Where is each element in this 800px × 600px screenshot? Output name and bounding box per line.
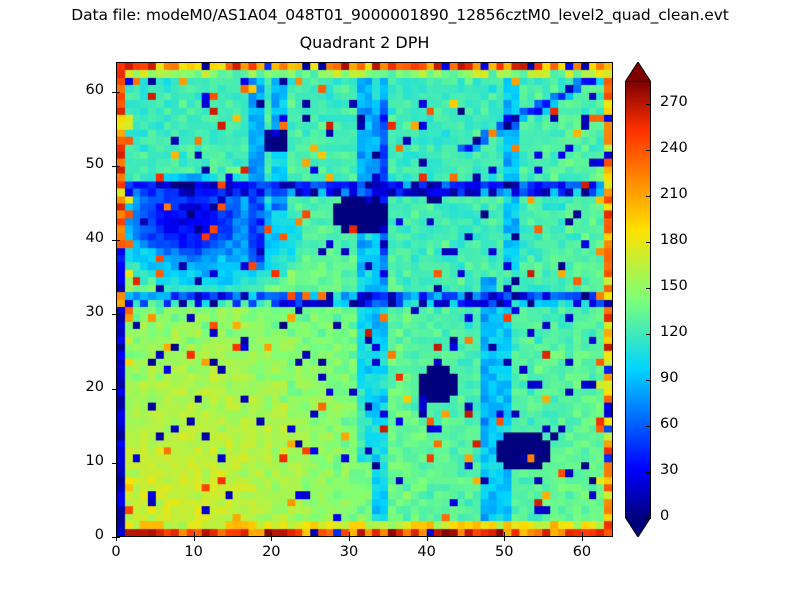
y-tick-mark-inner xyxy=(116,166,120,167)
colorbar-max-arrow-icon xyxy=(625,62,651,82)
y-tick-mark-inner xyxy=(116,240,120,241)
x-tick-mark xyxy=(194,537,195,541)
colorbar-tick-mark xyxy=(646,150,651,151)
x-tick-mark-inner xyxy=(271,532,272,536)
colorbar-tick-label: 60 xyxy=(660,416,678,432)
colorbar-tick-mark xyxy=(646,426,651,427)
colorbar-tick-label: 90 xyxy=(660,370,678,386)
colorbar-tick-label: 120 xyxy=(660,324,688,340)
colorbar-gradient-fill xyxy=(626,82,650,517)
x-tick-mark xyxy=(427,537,428,541)
x-tick-mark xyxy=(504,537,505,541)
x-tick-mark-inner xyxy=(349,532,350,536)
detector-heatmap-image xyxy=(117,63,612,536)
y-tick-label: 10 xyxy=(44,453,104,469)
colorbar-tick-label: 240 xyxy=(660,140,688,156)
x-tick-mark-inner xyxy=(427,532,428,536)
heatmap-axes xyxy=(116,62,613,537)
x-tick-label: 10 xyxy=(164,544,224,560)
page-title: Quadrant 2 DPH xyxy=(116,33,613,52)
y-tick-label: 20 xyxy=(44,379,104,395)
y-tick-label: 0 xyxy=(44,527,104,543)
x-tick-mark-inner xyxy=(194,532,195,536)
y-tick-mark-inner xyxy=(116,389,120,390)
colorbar-gradient xyxy=(625,81,651,518)
x-tick-mark-inner xyxy=(582,532,583,536)
x-tick-mark xyxy=(271,537,272,541)
x-tick-label: 40 xyxy=(397,544,457,560)
colorbar-min-arrow-icon xyxy=(625,517,651,537)
y-tick-mark-inner xyxy=(116,92,120,93)
colorbar-tick-label: 30 xyxy=(660,462,678,478)
colorbar-tick-mark xyxy=(646,472,651,473)
colorbar-tick-mark xyxy=(646,242,651,243)
colorbar-tick-mark xyxy=(646,518,651,519)
y-tick-label: 40 xyxy=(44,230,104,246)
colorbar-tick-mark xyxy=(646,104,651,105)
y-tick-mark-inner xyxy=(116,463,120,464)
data-file-title: Data file: modeM0/AS1A04_048T01_90000018… xyxy=(0,6,800,24)
matplotlib-figure: Data file: modeM0/AS1A04_048T01_90000018… xyxy=(0,0,800,600)
colorbar-tick-mark xyxy=(646,196,651,197)
x-tick-label: 30 xyxy=(319,544,379,560)
y-tick-mark-inner xyxy=(116,314,120,315)
x-tick-label: 50 xyxy=(474,544,534,560)
colorbar-tick-mark xyxy=(646,334,651,335)
colorbar-tick-label: 150 xyxy=(660,278,688,294)
y-tick-label: 50 xyxy=(44,156,104,172)
x-tick-label: 20 xyxy=(241,544,301,560)
colorbar-tick-mark xyxy=(646,380,651,381)
x-tick-mark xyxy=(349,537,350,541)
colorbar-tick-label: 180 xyxy=(660,232,688,248)
colorbar: 0306090120150180210240270 xyxy=(625,62,651,537)
x-tick-mark-inner xyxy=(504,532,505,536)
colorbar-tick-mark xyxy=(646,288,651,289)
y-tick-label: 30 xyxy=(44,304,104,320)
x-tick-label: 60 xyxy=(552,544,612,560)
x-tick-mark-inner xyxy=(116,532,117,536)
colorbar-tick-label: 210 xyxy=(660,186,688,202)
colorbar-tick-label: 270 xyxy=(660,94,688,110)
colorbar-tick-label: 0 xyxy=(660,508,669,524)
y-tick-mark-inner xyxy=(116,537,120,538)
x-tick-label: 0 xyxy=(86,544,146,560)
x-tick-mark xyxy=(582,537,583,541)
y-tick-label: 60 xyxy=(44,82,104,98)
